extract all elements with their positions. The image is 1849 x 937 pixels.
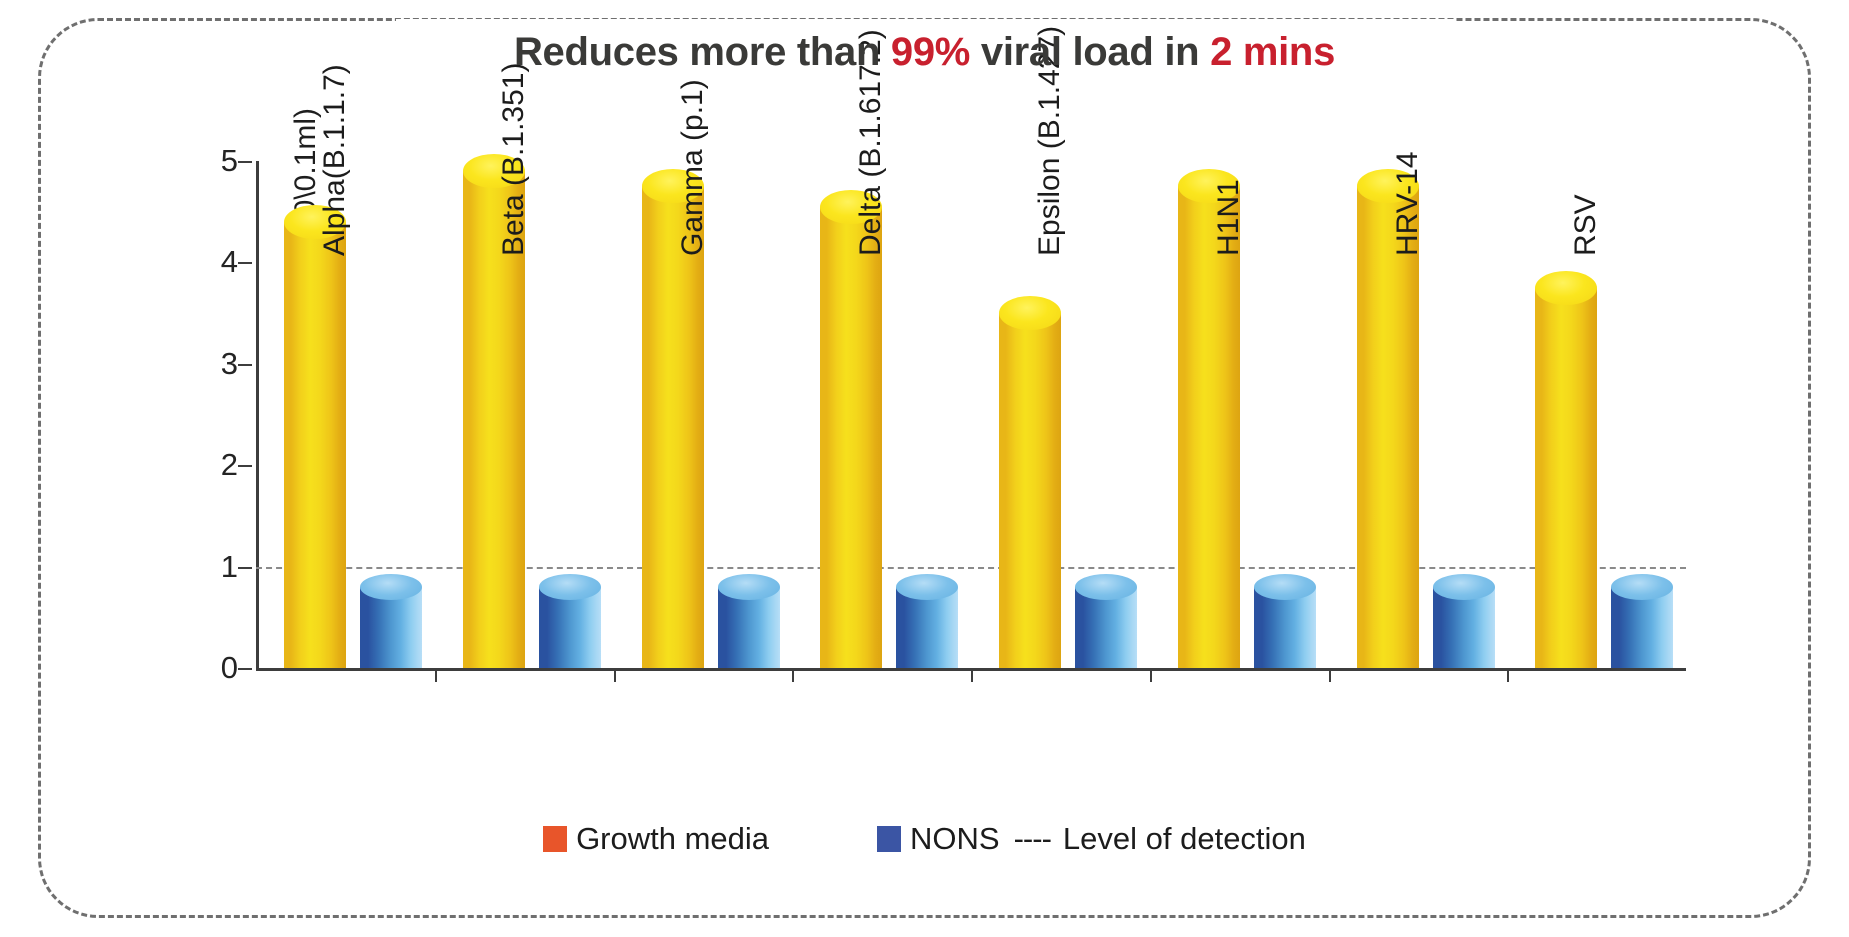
bar-nons[interactable] (1254, 587, 1316, 668)
bar-growth-media[interactable] (1357, 186, 1419, 668)
bar-top-cap (896, 574, 958, 600)
bar-nons[interactable] (1433, 587, 1495, 668)
bar-group: RSV (1507, 161, 1686, 668)
title-prefix: Reduces more than (514, 30, 891, 74)
y-tick-mark (238, 364, 252, 366)
chart-legend: Growth media NONS ---- Level of detectio… (41, 821, 1808, 857)
bar-top-cap (1075, 574, 1137, 600)
bar-body (1535, 288, 1597, 668)
bar-group: Gamma (p.1) (614, 161, 793, 668)
x-axis-separator (1507, 668, 1509, 682)
legend-label-nons: NONS (910, 821, 1000, 857)
bar-group: Delta (B.1.617.2) (792, 161, 971, 668)
y-tick-mark (238, 161, 252, 163)
category-label: HRV-14 (1391, 152, 1425, 257)
bar-nons[interactable] (896, 587, 958, 668)
y-axis-tick-labels: 012345 (178, 161, 238, 671)
bar-growth-media[interactable] (999, 313, 1061, 668)
bar-top-cap (718, 574, 780, 600)
legend-label-growth-media: Growth media (576, 821, 769, 857)
bar-body (642, 186, 704, 668)
category-label: Beta (B.1.351) (497, 63, 531, 256)
y-tick-mark (238, 668, 252, 670)
legend-dash-marker: ---- (1014, 821, 1051, 857)
y-tick-label: 3 (198, 346, 238, 382)
bar-group: Epsilon (B.1.427) (971, 161, 1150, 668)
legend-item-growth-media[interactable]: Growth media (543, 821, 769, 857)
bar-group: HRV-14 (1329, 161, 1508, 668)
bar-growth-media[interactable] (1178, 186, 1240, 668)
y-tick-mark (238, 567, 252, 569)
bar-group: Alpha(B.1.1.7) (256, 161, 435, 668)
chart-figure-frame: Reduces more than 99% viral load in 2 mi… (38, 18, 1811, 918)
bar-top-cap (1433, 574, 1495, 600)
bar-body (820, 207, 882, 668)
bar-nons[interactable] (1611, 587, 1673, 668)
bar-nons[interactable] (360, 587, 422, 668)
bar-body (284, 222, 346, 668)
title-highlight-percent: 99% (891, 30, 970, 74)
bar-group: H1N1 (1150, 161, 1329, 668)
bar-growth-media[interactable] (642, 186, 704, 668)
category-label: Alpha(B.1.1.7) (318, 64, 352, 256)
bar-top-cap (1254, 574, 1316, 600)
category-label: H1N1 (1212, 179, 1246, 256)
bar-body (999, 313, 1061, 668)
y-tick-label: 4 (198, 244, 238, 280)
plot-area: 012345 VirusTiter (log (CCID 50\0.1ml) A… (256, 161, 1686, 671)
bar-top-cap (1611, 574, 1673, 600)
bar-nons[interactable] (1075, 587, 1137, 668)
bar-growth-media[interactable] (284, 222, 346, 668)
category-label: RSV (1569, 194, 1603, 256)
legend-label-level-of-detection: Level of detection (1063, 821, 1306, 857)
y-tick-label: 5 (198, 143, 238, 179)
bar-top-cap (1535, 271, 1597, 305)
bar-growth-media[interactable] (820, 207, 882, 668)
bar-top-cap (539, 574, 601, 600)
y-tick-mark (238, 262, 252, 264)
bars-container: Alpha(B.1.1.7)Beta (B.1.351)Gamma (p.1)D… (256, 161, 1686, 668)
y-tick-mark (238, 465, 252, 467)
bar-top-cap (360, 574, 422, 600)
legend-item-nons[interactable]: NONS ---- Level of detection (877, 821, 1306, 857)
category-label: Gamma (p.1) (676, 79, 710, 256)
bar-nons[interactable] (539, 587, 601, 668)
page-title: Reduces more than 99% viral load in 2 mi… (514, 21, 1335, 83)
bar-growth-media[interactable] (1535, 288, 1597, 668)
title-highlight-time: 2 mins (1210, 30, 1335, 74)
legend-swatch-growth-media (543, 826, 567, 852)
x-axis-separator (1150, 668, 1152, 682)
x-axis-separator (971, 668, 973, 682)
title-middle: viral load in (970, 30, 1210, 74)
bar-top-cap (999, 296, 1061, 330)
bar-body (1357, 186, 1419, 668)
y-tick-label: 2 (198, 447, 238, 483)
x-axis-separator (1329, 668, 1331, 682)
x-axis-separator (614, 668, 616, 682)
y-tick-label: 0 (198, 650, 238, 686)
x-axis-separator (792, 668, 794, 682)
x-axis-separator (435, 668, 437, 682)
legend-swatch-nons (877, 826, 901, 852)
bar-nons[interactable] (718, 587, 780, 668)
bar-group: Beta (B.1.351) (435, 161, 614, 668)
bar-body (1178, 186, 1240, 668)
y-tick-label: 1 (198, 549, 238, 585)
